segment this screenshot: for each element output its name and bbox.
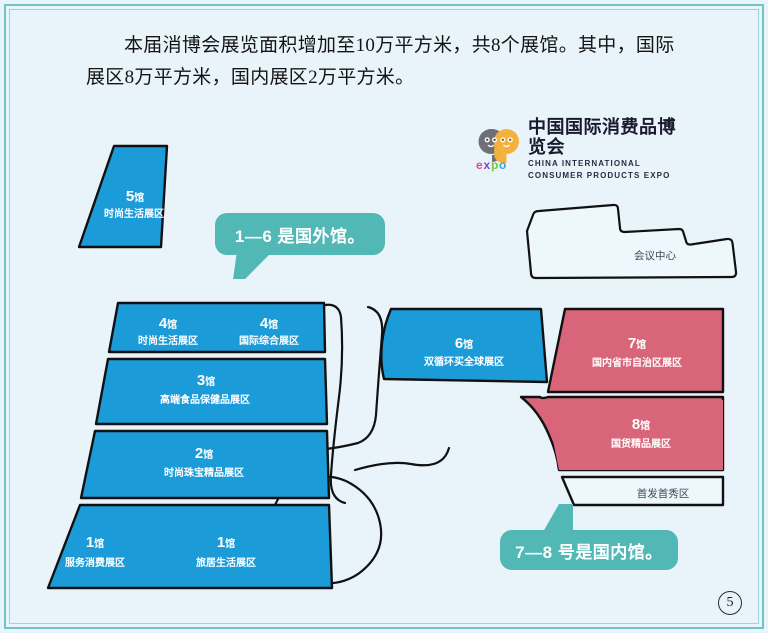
callout-foreign-halls-tail xyxy=(233,253,271,279)
callout-domestic-halls-text: 7—8 号是国内馆。 xyxy=(515,538,663,563)
hall-4[interactable]: 4馆 时尚生活展区 4馆 国际综合展区 xyxy=(109,303,325,352)
hall-2[interactable]: 2馆 时尚珠宝精品展区 xyxy=(81,431,329,498)
callout-domestic-halls-tail xyxy=(543,504,573,532)
hall-1[interactable]: 1馆 服务消费展区 1馆 旅居生活展区 xyxy=(48,505,332,588)
callout-domestic-halls[interactable]: 7—8 号是国内馆。 xyxy=(500,530,678,570)
hall-1b-name: 旅居生活展区 xyxy=(196,556,256,569)
hall-3[interactable]: 3馆 高端食品保健品展区 xyxy=(96,359,327,424)
hall-6[interactable]: 6馆 双循环买全球展区 xyxy=(381,309,547,382)
page-root: 本届消博会展览面积增加至10万平方米，共8个展馆。其中，国际 展区8万平方米，国… xyxy=(0,0,768,633)
hall-6-name: 双循环买全球展区 xyxy=(424,355,504,368)
hall-7[interactable]: 7馆 国内省市自治区展区 xyxy=(548,309,723,392)
hall-8[interactable]: 8馆 国货精品展区 xyxy=(521,397,723,470)
hall-3-name: 高端食品保健品展区 xyxy=(160,393,250,406)
zone-label-debut: 首发首秀区 xyxy=(637,487,690,500)
callout-foreign-halls-text: 1—6 是国外馆。 xyxy=(235,222,365,247)
zone-label-conference-center: 会议中心 xyxy=(634,249,676,262)
hall-2-name: 时尚珠宝精品展区 xyxy=(164,466,244,479)
hall-1a-name: 服务消费展区 xyxy=(65,556,125,569)
zone-debut[interactable]: 首发首秀区 xyxy=(562,477,723,505)
callout-foreign-halls[interactable]: 1—6 是国外馆。 xyxy=(215,213,385,255)
zone-conference-center[interactable]: 会议中心 xyxy=(527,205,736,278)
hall-8-name: 国货精品展区 xyxy=(611,437,671,450)
hall-4b-name: 国际综合展区 xyxy=(239,334,299,347)
page-number: 5 xyxy=(718,591,742,615)
hall-5-name: 时尚生活展区 xyxy=(104,207,164,220)
hall-5[interactable]: 5馆 时尚生活展区 xyxy=(79,146,167,247)
hall-7-name: 国内省市自治区展区 xyxy=(592,356,682,369)
hall-4a-name: 时尚生活展区 xyxy=(138,334,198,347)
